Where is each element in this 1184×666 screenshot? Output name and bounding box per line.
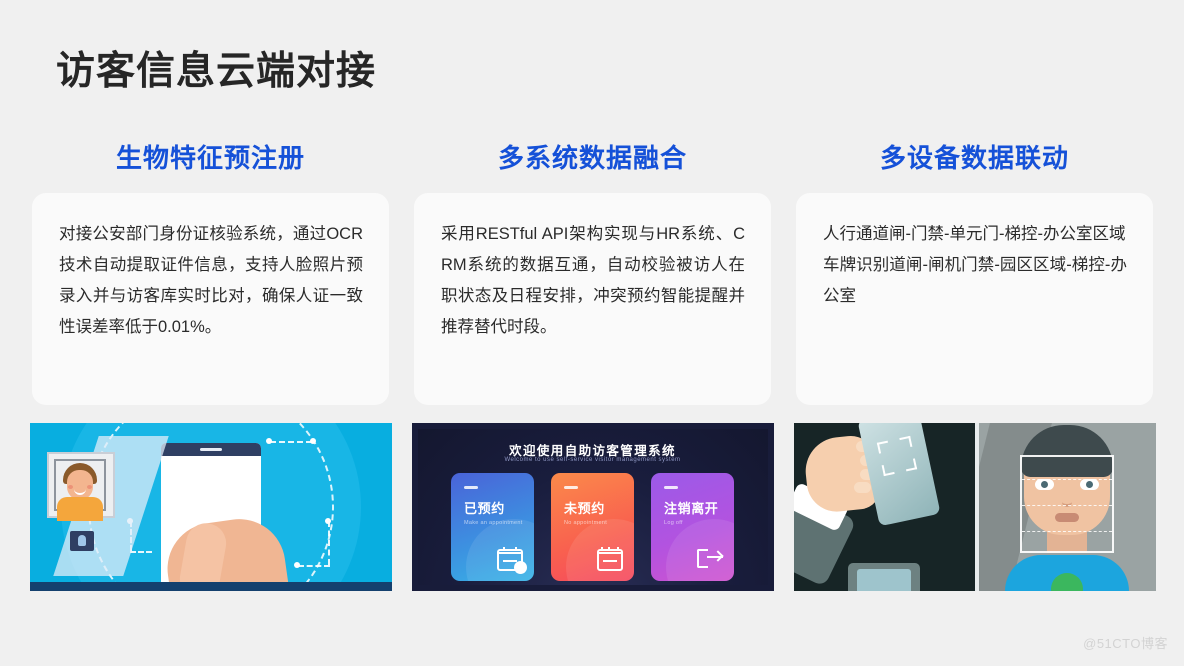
node-right-b [294, 562, 300, 568]
kiosk-subtitle: Welcome to use self-service visitor mana… [418, 457, 768, 463]
qr-scan-frame-icon [876, 436, 916, 476]
wire-mid-h [130, 551, 152, 553]
column-heading-2: 多系统数据融合 [498, 132, 687, 184]
feature-column-2: 多系统数据融合 采用RESTful API架构实现与HR系统、CRM系统的数据互… [414, 132, 771, 591]
scan-line-1 [1022, 479, 1112, 480]
wire-top-right [270, 441, 312, 443]
feature-card-3: 人行通道闸-门禁-单元门-梯控-办公室区域 车牌识别道闸-闸机门禁-园区区域-梯… [796, 193, 1153, 405]
watermark: @51CTO博客 [1083, 633, 1168, 652]
person-shirt [57, 497, 103, 521]
face-scan-box [1020, 455, 1114, 553]
kiosk-card-english-3: Log off [664, 520, 734, 526]
phone-speaker [161, 443, 261, 456]
kiosk-screen: 欢迎使用自助访客管理系统 Welcome to use self-service… [418, 429, 768, 585]
card-dash-2 [564, 486, 578, 489]
kiosk-card-english-2: No appointment [564, 520, 634, 526]
finger-4 [854, 482, 871, 493]
face-recognition-panel [975, 423, 1156, 591]
kiosk-card-appointment[interactable]: 已预约 Make an appointment [451, 473, 534, 581]
page-title: 访客信息云端对接 [56, 40, 376, 96]
feature-card-1: 对接公安部门身份证核验系统，通过OCR技术自动提取证件信息，支持人脸照片预录入并… [32, 193, 389, 405]
kiosk-card-row: 已预约 Make an appointment 未预约 No appo [418, 473, 768, 581]
card-dash-1 [464, 486, 478, 489]
column-heading-1: 生物特征预注册 [116, 132, 305, 184]
logout-icon [697, 547, 723, 571]
kiosk-card-label-3: 注销离开 [664, 498, 734, 517]
id-card-icon [70, 531, 94, 551]
calendar-clock-icon [497, 547, 523, 571]
node-top-right-b [310, 438, 316, 444]
face-registration-phone-illustration [30, 423, 392, 591]
person-blush-right [87, 485, 92, 489]
scan-line-2 [1022, 505, 1112, 506]
column-heading-3: 多设备数据联动 [880, 132, 1069, 184]
feature-card-2: 采用RESTful API架构实现与HR系统、CRM系统的数据互通，自动校验被访… [414, 193, 771, 405]
feature-card-text-2: 采用RESTful API架构实现与HR系统、CRM系统的数据互通，自动校验被访… [441, 219, 745, 343]
kiosk-card-no-appointment[interactable]: 未预约 No appointment [551, 473, 634, 581]
wire-right-v [328, 521, 330, 565]
kiosk-card-english-1: Make an appointment [464, 520, 534, 526]
scan-line-3 [1022, 531, 1112, 532]
self-service-visitor-kiosk-screenshot: 欢迎使用自助访客管理系统 Welcome to use self-service… [412, 423, 774, 591]
feature-card-text-1: 对接公安部门身份证核验系统，通过OCR技术自动提取证件信息，支持人脸照片预录入并… [59, 219, 363, 343]
qr-and-face-recognition-illustration [794, 423, 1156, 591]
slide-root: 访客信息云端对接 生物特征预注册 对接公安部门身份证核验系统，通过OCR技术自动… [0, 0, 1184, 666]
node-right-a [325, 518, 331, 524]
calendar-icon [597, 547, 623, 571]
feature-column-3: 多设备数据联动 人行通道闸-门禁-单元门-梯控-办公室区域 车牌识别道闸-闸机门… [796, 132, 1153, 591]
node-top-right-a [266, 438, 272, 444]
feature-columns: 生物特征预注册 对接公安部门身份证核验系统，通过OCR技术自动提取证件信息，支持… [32, 132, 1152, 591]
card-dash-3 [664, 486, 678, 489]
qr-scan-panel [794, 423, 975, 591]
base-strip [30, 582, 392, 591]
wire-right-h [298, 565, 330, 567]
feature-column-1: 生物特征预注册 对接公安部门身份证核验系统，通过OCR技术自动提取证件信息，支持… [32, 132, 389, 591]
feature-card-text-3: 人行通道闸-门禁-单元门-梯控-办公室区域 车牌识别道闸-闸机门禁-园区区域-梯… [823, 219, 1127, 312]
kiosk-card-label-2: 未预约 [564, 498, 634, 517]
person-blush-left [68, 485, 73, 489]
access-terminal [848, 563, 920, 591]
kiosk-card-logoff[interactable]: 注销离开 Log off [651, 473, 734, 581]
kiosk-card-label-1: 已预约 [464, 498, 534, 517]
